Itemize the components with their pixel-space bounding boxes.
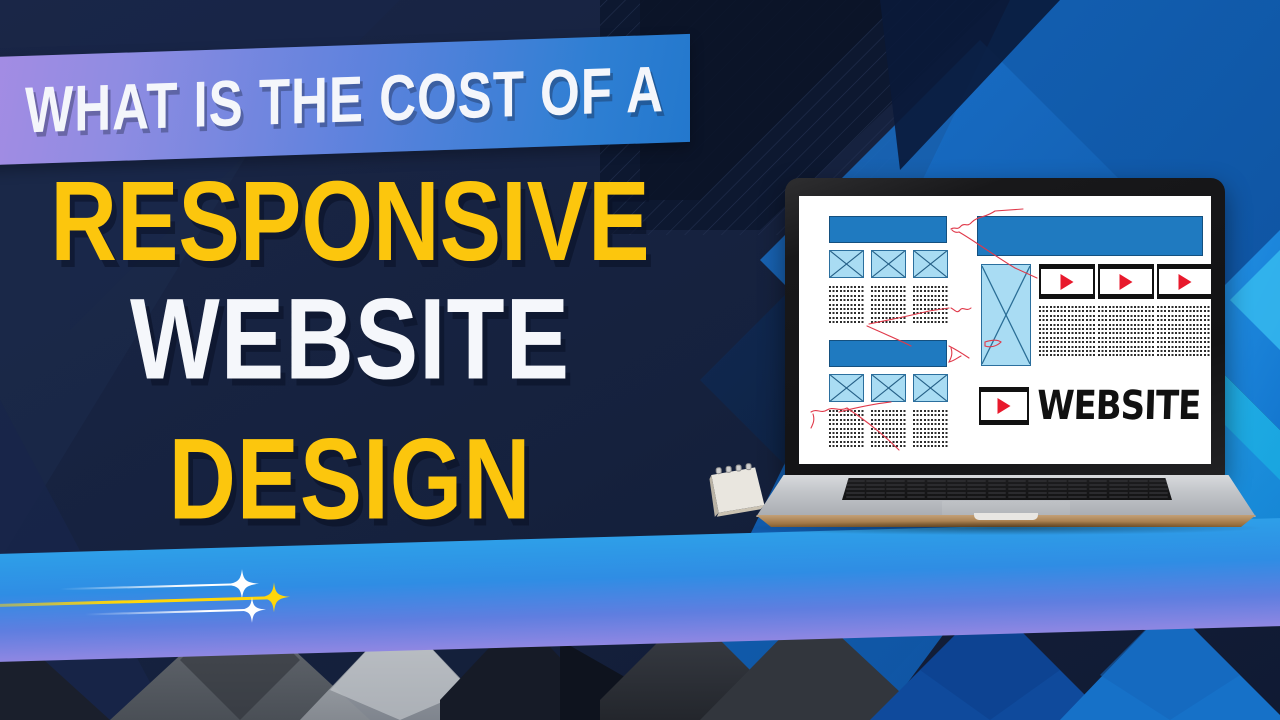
laptop-screen: WEBSITE: [799, 196, 1211, 464]
keyboard-key: [1068, 496, 1087, 498]
keyboard-row: [846, 492, 1168, 494]
keyboard-key: [988, 496, 1007, 498]
keyboard-key: [886, 488, 905, 490]
keyboard-key: [1129, 492, 1148, 494]
keyboard-key: [1109, 492, 1128, 494]
keyboard-key: [846, 488, 865, 490]
keyboard-key: [1149, 480, 1168, 482]
keyboard-key: [886, 480, 905, 482]
red-annotation-scribbles: [799, 196, 1211, 464]
keyboard-key: [1028, 488, 1047, 490]
keyboard-key: [866, 496, 885, 498]
keyboard-key: [846, 496, 865, 498]
keyboard-key: [1089, 488, 1108, 490]
keyboard-key: [1129, 488, 1148, 490]
keyboard-key: [846, 480, 865, 482]
keyboard-key: [947, 492, 966, 494]
keyboard-row: [846, 480, 1168, 482]
keyboard-key: [886, 492, 905, 494]
keyboard-row: [846, 484, 1168, 486]
keyboard-key: [886, 496, 905, 498]
keyboard-key: [1109, 484, 1128, 486]
keyboard-key: [1048, 492, 1067, 494]
keyboard-key: [967, 484, 986, 486]
keyboard-key: [988, 492, 1007, 494]
keyboard-key: [947, 488, 966, 490]
laptop-shadow: [740, 521, 1260, 535]
sparkle-trail-1: [60, 583, 240, 590]
sparkle-trail-2: [0, 596, 280, 610]
keyboard-row: [846, 488, 1168, 490]
keyboard-keys: [846, 480, 1168, 498]
laptop-device: WEBSITE: [700, 165, 1260, 545]
keyboard-key: [1129, 484, 1148, 486]
keyboard-key: [1028, 492, 1047, 494]
keyboard-key: [866, 480, 885, 482]
keyboard-key: [846, 492, 865, 494]
sparkle-trail-3: [85, 609, 255, 616]
keyboard-key: [967, 480, 986, 482]
keyboard-key: [1048, 480, 1067, 482]
keyboard-key: [1048, 488, 1067, 490]
kicker-text: WHAT IS THE COST OF A: [26, 51, 665, 148]
keyboard-key: [927, 492, 946, 494]
keyboard-key: [927, 496, 946, 498]
keyboard-key: [967, 488, 986, 490]
keyboard-key: [1089, 484, 1108, 486]
keyboard-key: [1068, 480, 1087, 482]
keyboard-key: [1109, 496, 1128, 498]
keyboard-key: [1028, 496, 1047, 498]
laptop-latch-notch: [974, 513, 1038, 520]
keyboard-key: [907, 480, 926, 482]
keyboard-key: [846, 484, 865, 486]
keyboard-key: [1068, 488, 1087, 490]
laptop-base: [756, 475, 1256, 525]
keyboard-key: [1008, 480, 1027, 482]
keyboard-key: [988, 484, 1007, 486]
keyboard-key: [1149, 484, 1168, 486]
keyboard-key: [927, 480, 946, 482]
keyboard-key: [1068, 484, 1087, 486]
keyboard-key: [1149, 496, 1168, 498]
wireframe-mockup: WEBSITE: [799, 196, 1211, 464]
keyboard-key: [907, 488, 926, 490]
keyboard-key: [907, 492, 926, 494]
keyboard-key: [927, 484, 946, 486]
keyboard-key: [1028, 484, 1047, 486]
keyboard-key: [1149, 492, 1168, 494]
keyboard-key: [1048, 496, 1067, 498]
keyboard-key: [1129, 496, 1148, 498]
keyboard-key: [1149, 488, 1168, 490]
keyboard-key: [947, 480, 966, 482]
keyboard-key: [1089, 492, 1108, 494]
keyboard-key: [967, 492, 986, 494]
keyboard-key: [1129, 480, 1148, 482]
keyboard-key: [1089, 496, 1108, 498]
keyboard-key: [1008, 496, 1027, 498]
keyboard-key: [1008, 484, 1027, 486]
keyboard-row: [846, 496, 1168, 498]
keyboard-key: [947, 496, 966, 498]
keyboard-key: [907, 484, 926, 486]
keyboard-key: [988, 480, 1007, 482]
keyboard-key: [988, 488, 1007, 490]
keyboard-key: [1068, 492, 1087, 494]
keyboard-key: [907, 496, 926, 498]
keyboard-key: [1109, 488, 1128, 490]
keyboard-key: [1028, 480, 1047, 482]
keyboard-key: [1008, 492, 1027, 494]
keyboard-key: [1109, 480, 1128, 482]
keyboard-key: [947, 484, 966, 486]
keyboard-key: [1089, 480, 1108, 482]
keyboard-key: [1008, 488, 1027, 490]
keyboard-key: [967, 496, 986, 498]
keyboard-key: [866, 492, 885, 494]
headline-responsive: RESPONSIVE: [14, 165, 686, 278]
laptop-keyboard[interactable]: [842, 478, 1172, 500]
poster-canvas: WHAT IS THE COST OF A RESPONSIVE WEBSITE…: [0, 0, 1280, 720]
keyboard-key: [866, 484, 885, 486]
keyboard-key: [1048, 484, 1067, 486]
headline-design: DESIGN: [11, 422, 690, 537]
headline-website: WEBSITE: [4, 282, 697, 397]
keyboard-key: [927, 488, 946, 490]
keyboard-key: [866, 488, 885, 490]
keyboard-key: [886, 484, 905, 486]
